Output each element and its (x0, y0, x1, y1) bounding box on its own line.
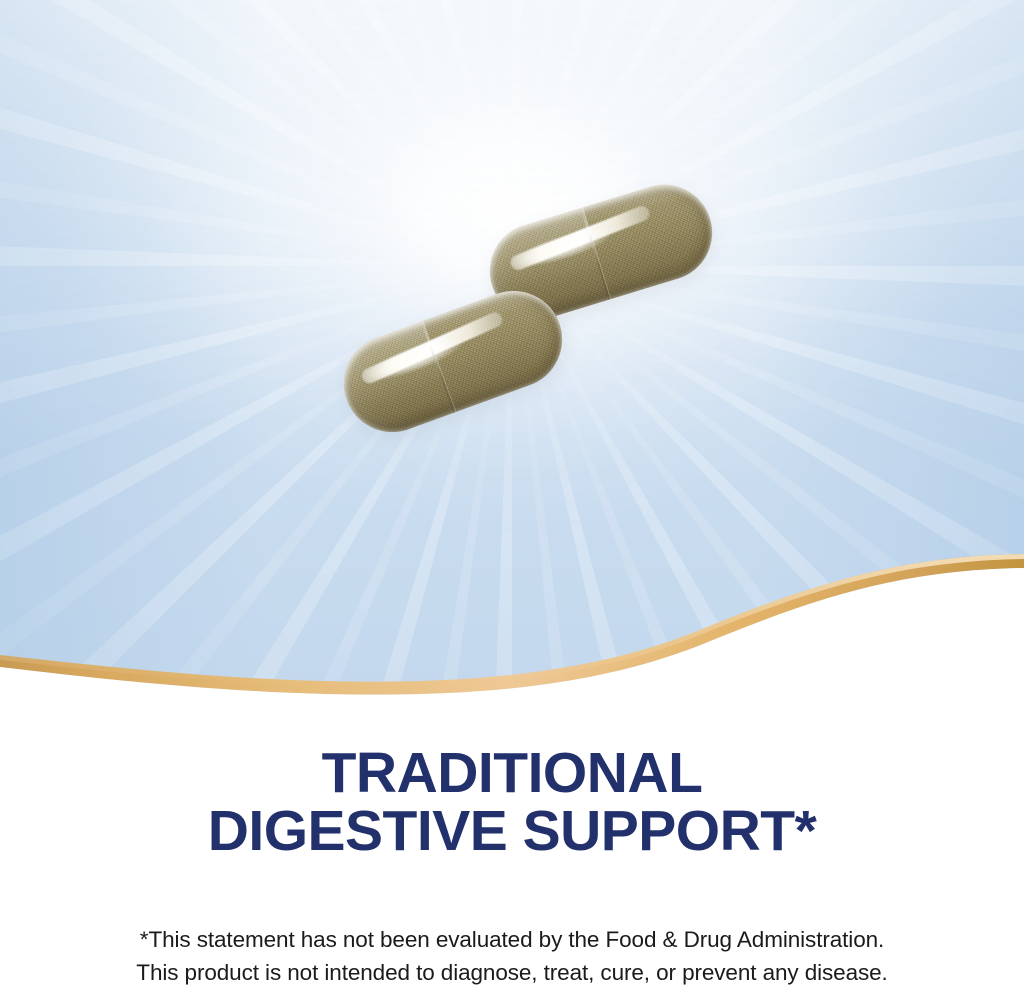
headline-line-1: TRADITIONAL (0, 744, 1024, 802)
fda-disclaimer: *This statement has not been evaluated b… (0, 923, 1024, 989)
capsule-bottom-left (330, 277, 576, 445)
disclaimer-line-2: This product is not intended to diagnose… (0, 956, 1024, 989)
wave-white-fill (0, 568, 1024, 710)
gold-wave-divider (0, 520, 1024, 710)
headline: TRADITIONAL DIGESTIVE SUPPORT* (0, 744, 1024, 860)
disclaimer-line-1: *This statement has not been evaluated b… (0, 923, 1024, 956)
headline-line-2: DIGESTIVE SUPPORT* (0, 802, 1024, 860)
product-marketing-image: TRADITIONAL DIGESTIVE SUPPORT* *This sta… (0, 0, 1024, 991)
